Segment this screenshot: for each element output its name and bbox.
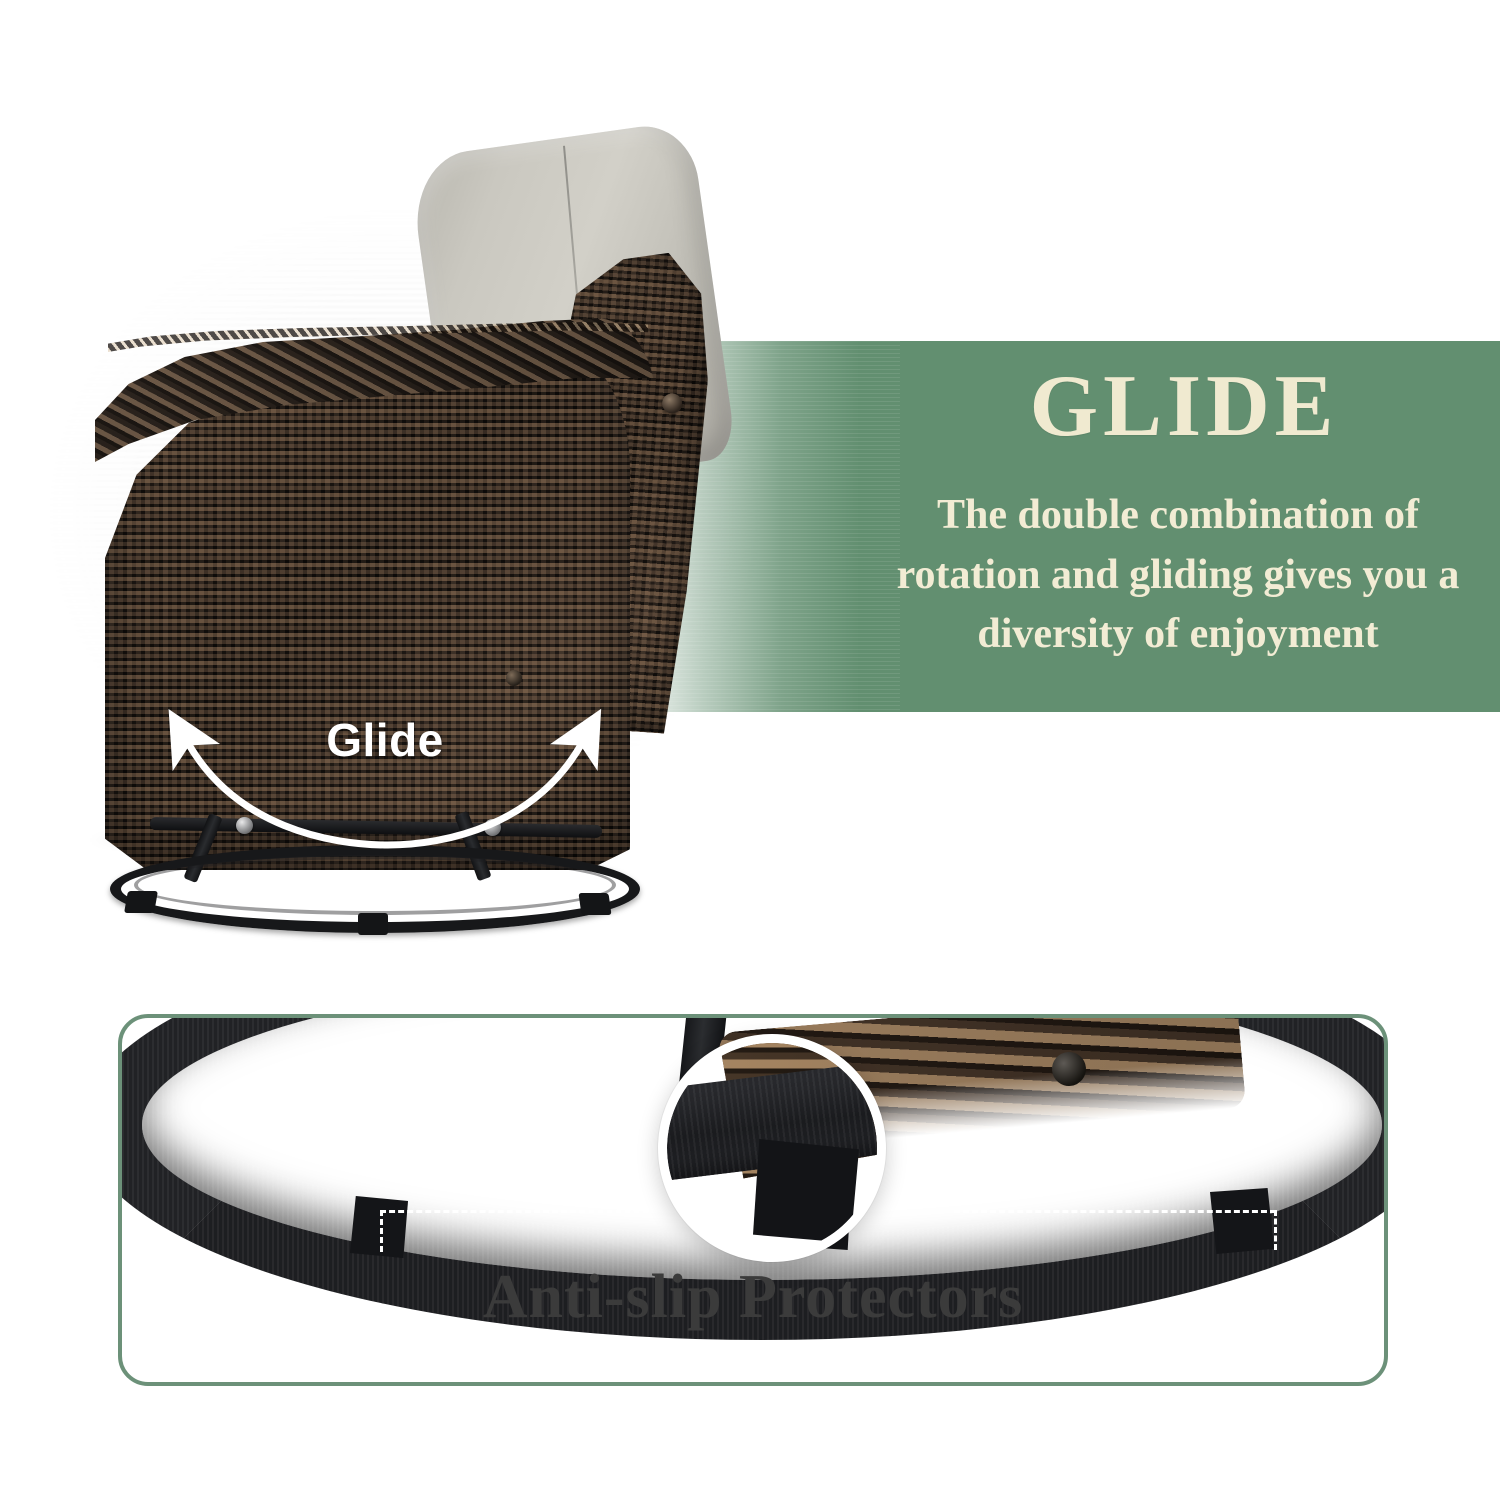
anti-slip-protector-right bbox=[1210, 1188, 1274, 1254]
dashed-line-horizontal-right bbox=[954, 1210, 1276, 1213]
glide-subheadline: The double combination of rotation and g… bbox=[862, 486, 1494, 665]
glide-curved-arrow-icon bbox=[150, 685, 620, 850]
swivel-ring-inner bbox=[134, 855, 616, 915]
glide-feature-section: GLIDE The double combination of rotation… bbox=[0, 0, 1500, 960]
chair-side-bolt-icon bbox=[506, 670, 522, 686]
glide-motion-annotation: Glide bbox=[150, 685, 620, 850]
anti-slip-protector-left bbox=[350, 1196, 408, 1258]
product-feature-image: GLIDE The double combination of rotation… bbox=[0, 0, 1500, 1500]
glide-headline: GLIDE bbox=[880, 363, 1488, 451]
swivel-foot-center bbox=[358, 913, 388, 935]
chair-product-photo: Glide bbox=[0, 60, 800, 940]
backrest-bolt-icon bbox=[661, 393, 682, 414]
swivel-foot-left bbox=[124, 891, 158, 913]
swivel-foot-right bbox=[578, 893, 611, 915]
dashed-line-vertical-right bbox=[1274, 1210, 1277, 1250]
magnifier-circle bbox=[658, 1034, 886, 1262]
dashed-line-horizontal-left bbox=[380, 1210, 712, 1213]
anti-slip-caption: Anti-slip Protectors bbox=[118, 1262, 1388, 1333]
magnifier-protector-detail bbox=[753, 1139, 859, 1243]
dashed-line-vertical-left bbox=[380, 1210, 383, 1252]
banner-copy: GLIDE The double combination of rotation… bbox=[880, 341, 1500, 712]
magnifier-content bbox=[667, 1043, 877, 1253]
